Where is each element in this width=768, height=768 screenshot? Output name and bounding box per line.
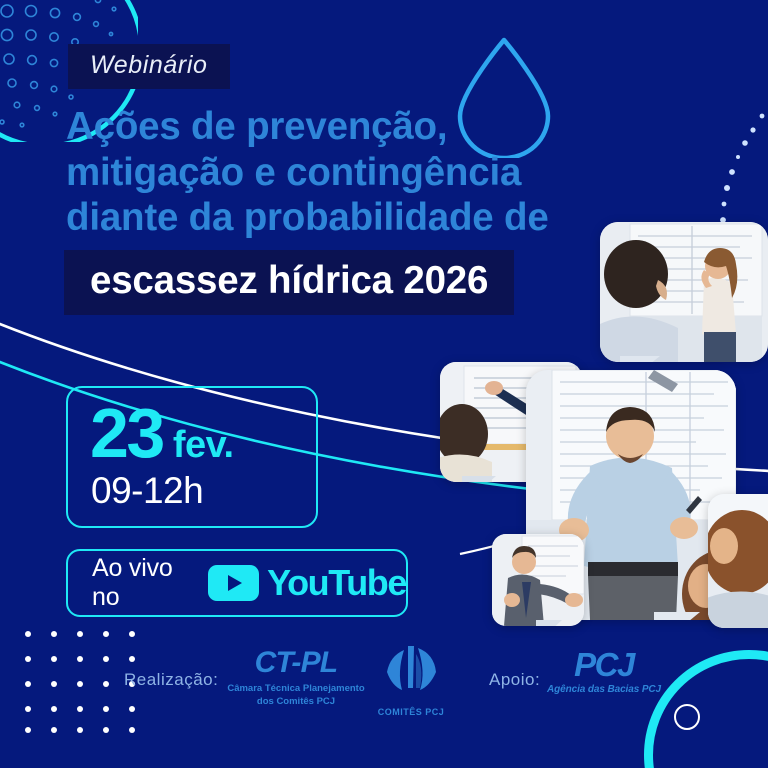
comites-pcj-fan-icon — [380, 644, 442, 698]
headline-line-2: mitigação e contingência — [66, 150, 626, 196]
ct-pl-subtitle-line-2: dos Comitês PCJ — [226, 696, 366, 709]
footer: Realização: CT-PL Câmara Técnica Planeja… — [0, 642, 768, 726]
webinar-poster: Webinário Ações de prevenção, mitigação … — [0, 0, 768, 768]
event-date-row: 23 fev. — [90, 398, 234, 468]
logo-agencia-pcj: PCJ Agência das Bacias PCJ — [540, 648, 668, 695]
logo-comites-pcj: COMITÊS PCJ — [374, 644, 448, 717]
photo-woman-audience — [708, 494, 768, 628]
youtube-wordmark: YouTube — [267, 565, 406, 601]
headline-line-3: diante da probabilidade de — [66, 195, 626, 241]
photo-man-gesturing — [492, 534, 584, 626]
event-date-month: fev. — [173, 426, 234, 464]
webinar-badge-label: Webinário — [90, 51, 208, 79]
youtube-logo: YouTube — [208, 565, 406, 601]
page-title: Ações de prevenção, mitigação e contingê… — [66, 104, 626, 241]
logo-ct-pl: CT-PL Câmara Técnica Planejamento dos Co… — [226, 648, 366, 709]
ct-pl-subtitle-line-1: Câmara Técnica Planejamento — [226, 683, 366, 696]
apoio-label: Apoio: — [489, 670, 540, 690]
watch-live-youtube-button[interactable]: Ao vivo no YouTube — [66, 549, 408, 617]
event-time: 09-12h — [91, 472, 203, 509]
headline-highlight: escassez hídrica 2026 — [64, 250, 514, 315]
comites-pcj-caption: COMITÊS PCJ — [374, 707, 448, 717]
ct-pl-mark: CT-PL — [226, 648, 366, 678]
pcj-subtitle: Agência das Bacias PCJ — [540, 684, 668, 695]
headline-line-1: Ações de prevenção, — [66, 104, 626, 150]
watch-live-label: Ao vivo no — [92, 554, 195, 612]
pcj-mark: PCJ — [540, 648, 668, 681]
photo-audience-and-presenter — [600, 222, 768, 362]
event-date-day: 23 — [90, 398, 163, 468]
play-triangle-icon — [228, 575, 242, 591]
realizacao-label: Realização: — [124, 670, 218, 690]
headline-highlight-label: escassez hídrica 2026 — [90, 259, 488, 302]
event-date-card: 23 fev. 09-12h — [66, 386, 318, 528]
webinar-badge: Webinário — [68, 44, 230, 89]
youtube-play-icon — [208, 565, 259, 601]
